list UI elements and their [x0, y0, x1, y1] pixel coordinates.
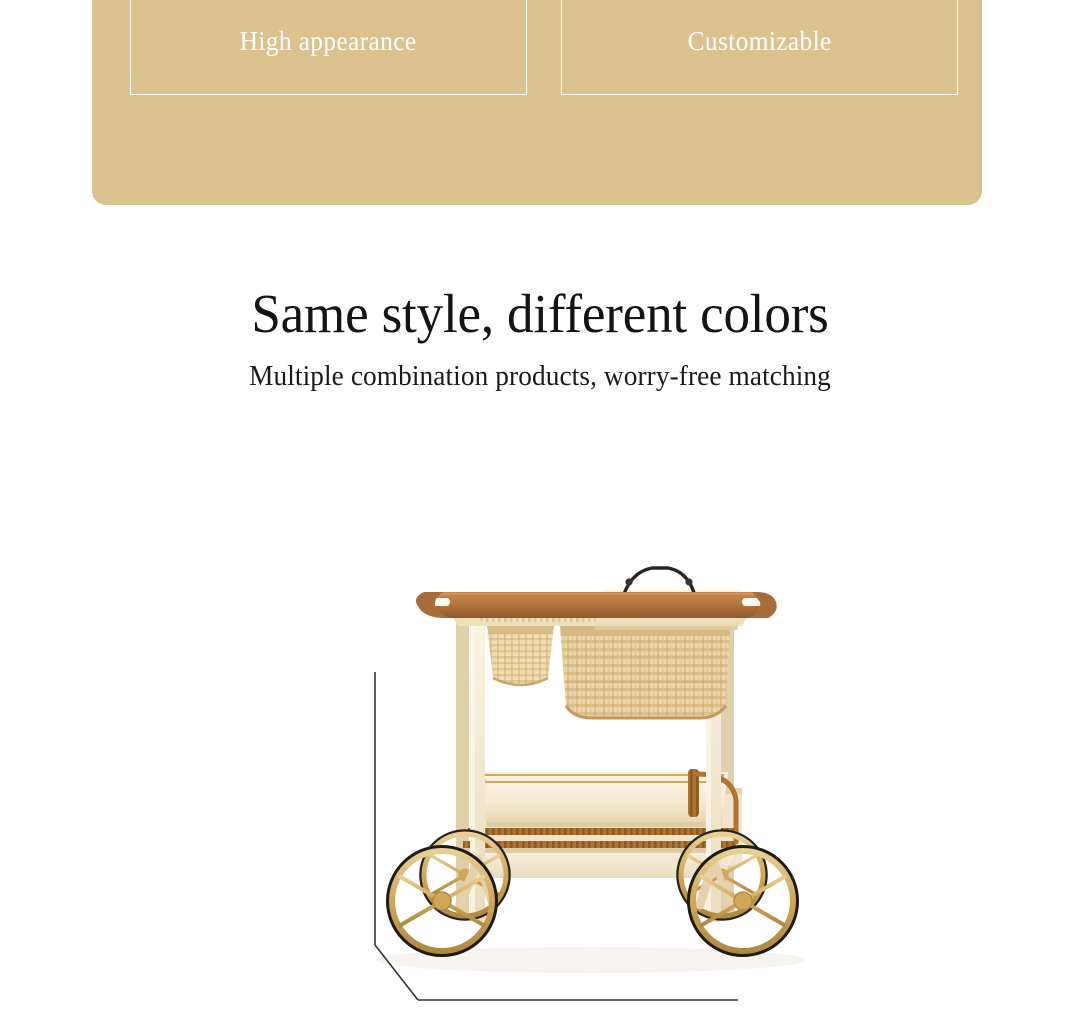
top-wood-frame: [416, 592, 777, 618]
section-title: Same style, different colors: [19, 282, 1061, 346]
large-rattan-basket: [560, 626, 730, 718]
feature-panel: High appearance Customizable: [92, 0, 982, 205]
feature-box-label: High appearance: [240, 28, 417, 55]
feature-box-customizable[interactable]: Customizable: [561, 0, 958, 95]
feature-box-label: Customizable: [687, 28, 831, 55]
section-subtitle: Multiple combination products, worry-fre…: [14, 360, 1067, 394]
section-heading-block: Same style, different colors Multiple co…: [0, 282, 1080, 393]
product-figure: 760m 525mm: [0, 560, 1080, 1025]
product-detail-page: High appearance Customizable Same style,…: [0, 0, 1080, 1025]
product-image-serving-cart: [0, 560, 1080, 1025]
feature-box-row: High appearance Customizable: [130, 0, 958, 95]
feature-box-high-appearance[interactable]: High appearance: [130, 0, 527, 95]
small-rattan-basket: [487, 626, 554, 685]
